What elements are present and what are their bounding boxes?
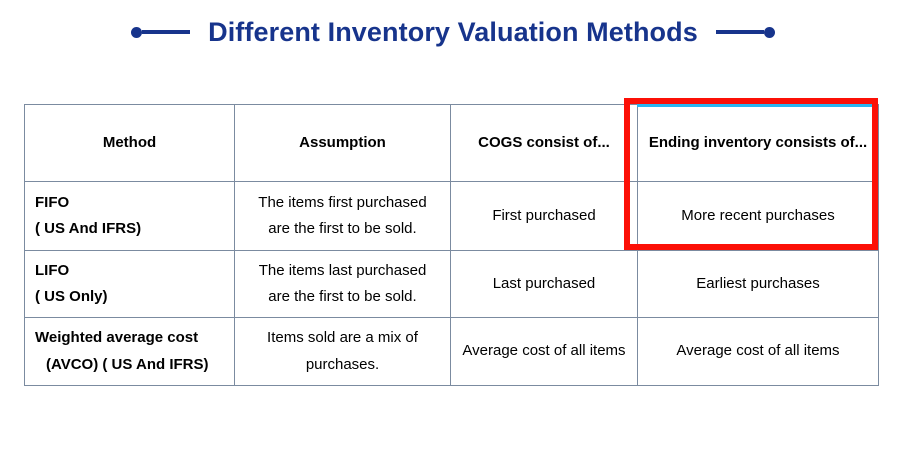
ornament-line	[142, 30, 190, 34]
cell-assumption-line1: The items first purchased	[258, 194, 426, 211]
ornament-dot	[131, 27, 142, 38]
ornament-line	[716, 30, 764, 34]
table-row: FIFO ( US And IFRS) The items first purc…	[25, 182, 879, 251]
cell-method: FIFO ( US And IFRS)	[25, 182, 235, 251]
page-title-block: Different Inventory Valuation Methods	[0, 10, 906, 54]
cell-assumption-line1: Items sold are a mix of	[267, 329, 418, 346]
cell-method-line1: FIFO	[35, 194, 69, 211]
table-row: LIFO ( US Only) The items last purchased…	[25, 251, 879, 318]
line-dot-ornament-icon	[716, 27, 775, 38]
cell-method-line2: ( US And IFRS)	[35, 216, 234, 242]
cell-cogs: First purchased	[451, 182, 638, 251]
column-header-assumption: Assumption	[235, 105, 451, 182]
cell-method: Weighted average cost (AVCO) ( US And IF…	[25, 318, 235, 386]
cell-method-line1: LIFO	[35, 262, 69, 279]
cell-assumption-line2: are the first to be sold.	[268, 288, 416, 305]
page-title: Different Inventory Valuation Methods	[208, 19, 698, 46]
cell-assumption: Items sold are a mix of purchases.	[235, 318, 451, 386]
cell-ending-inventory: Earliest purchases	[638, 251, 879, 318]
cell-cogs: Last purchased	[451, 251, 638, 318]
cell-assumption-line2: are the first to be sold.	[268, 220, 416, 237]
column-header-cogs: COGS consist of...	[451, 105, 638, 182]
table-header-row: Method Assumption COGS consist of... End…	[25, 105, 879, 182]
cell-assumption: The items first purchased are the first …	[235, 182, 451, 251]
cell-method: LIFO ( US Only)	[25, 251, 235, 318]
column-header-ending-inventory: Ending inventory consists of...	[638, 105, 879, 182]
ornament-dot	[764, 27, 775, 38]
cell-method-line1: Weighted average cost	[35, 329, 198, 346]
cell-ending-inventory: More recent purchases	[638, 182, 879, 251]
cell-assumption-line1: The items last purchased	[259, 262, 427, 279]
cell-cogs: Average cost of all items	[451, 318, 638, 386]
cell-assumption-line2: purchases.	[306, 356, 379, 373]
inventory-valuation-methods-table: Method Assumption COGS consist of... End…	[24, 104, 879, 386]
table-row: Weighted average cost (AVCO) ( US And IF…	[25, 318, 879, 386]
cell-ending-inventory: Average cost of all items	[638, 318, 879, 386]
column-header-method: Method	[25, 105, 235, 182]
cell-assumption: The items last purchased are the first t…	[235, 251, 451, 318]
cell-method-line2: ( US Only)	[35, 284, 234, 310]
dot-line-ornament-icon	[131, 27, 190, 38]
cell-method-line2: (AVCO) ( US And IFRS)	[35, 352, 234, 378]
